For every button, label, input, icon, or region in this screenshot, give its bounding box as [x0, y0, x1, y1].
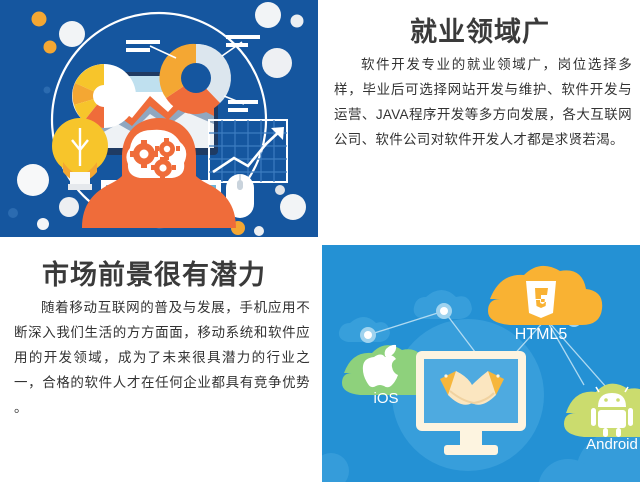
- data-analytics-illustration: [0, 0, 318, 237]
- cloud-label-android: Android: [586, 436, 638, 453]
- cloud-label-html5: HTML5: [515, 326, 568, 343]
- employment-heading: 就业领域广: [410, 10, 550, 49]
- panel-platforms-illustration: HTML5 iOS: [322, 245, 640, 482]
- promo-image-grid: 就业领域广 软件开发专业的就业领域广，岗位选择多样，毕业后可选择网站开发与维护、…: [0, 0, 640, 482]
- market-body-text: 随着移动互联网的普及与发展，手机应用不断深入我们生活的方方面面，移动系统和软件应…: [14, 295, 310, 420]
- cross-platform-illustration: HTML5 iOS: [322, 245, 640, 482]
- employment-body-text: 软件开发专业的就业领域广，岗位选择多样，毕业后可选择网站开发与维护、软件开发与运…: [334, 52, 632, 152]
- html5-shield-icon: [526, 281, 556, 318]
- cloud-label-ios: iOS: [373, 390, 398, 407]
- panel-market-text: 市场前景很有潜力 随着移动互联网的普及与发展，手机应用不断深入我们生活的方方面面…: [0, 241, 318, 482]
- panel-employment-text: 就业领域广 软件开发专业的就业领域广，岗位选择多样，毕业后可选择网站开发与维护、…: [322, 0, 640, 237]
- lightbulb-icon: [52, 118, 108, 190]
- panel-analytics-illustration: [0, 0, 318, 237]
- market-heading: 市场前景很有潜力: [42, 253, 266, 292]
- grid-trend-arrow-icon: [209, 120, 287, 182]
